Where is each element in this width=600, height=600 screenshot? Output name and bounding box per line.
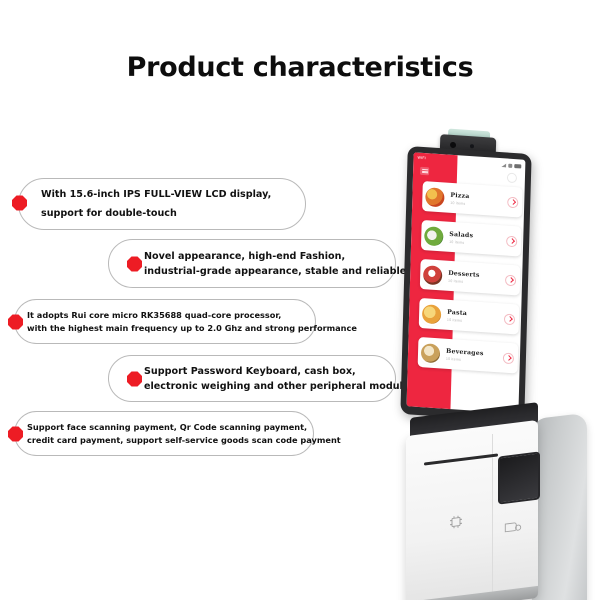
chevron-right-icon[interactable] [506,235,517,247]
feature-line: It adopts Rui core micro RK35688 quad-co… [27,309,357,322]
qr-code-scanner-window [498,451,540,504]
red-octagon-bullet-icon [8,427,23,442]
pedestal-panel-seam [492,434,493,598]
kiosk-device-image: WIFI Pizza 10 items [392,128,592,548]
chevron-right-icon[interactable] [505,274,516,286]
nfc-scan-icon [448,513,464,531]
feature-line: with the highest main frequency up to 2.… [27,322,357,335]
pedestal-body [406,420,538,600]
signal-icon [501,163,506,167]
slide-canvas: Product characteristics With 15.6-inch I… [0,0,600,600]
kiosk-screen[interactable]: WIFI Pizza 10 items [407,152,526,413]
feature-line: Support face scanning payment, Qr Code s… [27,421,341,434]
chevron-right-icon[interactable] [504,313,515,325]
red-octagon-bullet-icon [8,315,23,330]
feature-text-peripherals: Support Password Keyboard, cash box, ele… [109,364,415,394]
wifi-icon [508,164,512,168]
feature-line: Novel appearance, high-end Fashion, [144,249,406,264]
red-octagon-bullet-icon [12,196,27,211]
red-octagon-bullet-icon [127,257,142,272]
feature-line: support for double-touch [41,204,271,223]
chevron-right-icon[interactable] [507,196,518,208]
feature-line: credit card payment, support self-servic… [27,434,341,447]
camera-lens-icon [450,142,456,148]
status-bar [501,161,521,168]
pedestal-side-panel [532,413,587,600]
menu-category-list: Pizza 10 items Salads 10 items [417,181,522,383]
salad-thumb-icon [424,226,444,246]
menu-item-pizza[interactable]: Pizza 10 items [422,181,523,218]
feature-line: Support Password Keyboard, cash box, [144,364,415,379]
dessert-thumb-icon [423,265,443,285]
feature-text-display: With 15.6-inch IPS FULL-VIEW LCD display… [19,185,271,223]
circle-avatar-icon[interactable] [507,173,517,184]
feature-callout-payment[interactable]: Support face scanning payment, Qr Code s… [14,411,314,456]
feature-line: industrial-grade appearance, stable and … [144,264,406,279]
feature-line: electronic weighing and other peripheral… [144,379,415,394]
menu-item-beverages[interactable]: Beverages 10 items [418,337,519,374]
feature-callout-processor[interactable]: It adopts Rui core micro RK35688 quad-co… [14,299,316,344]
feature-callout-peripherals[interactable]: Support Password Keyboard, cash box, ele… [108,355,396,402]
menu-item-pasta[interactable]: Pasta 10 items [419,298,520,335]
feature-callout-display[interactable]: With 15.6-inch IPS FULL-VIEW LCD display… [18,178,306,230]
hamburger-menu-icon[interactable] [420,167,429,176]
menu-item-salads[interactable]: Salads 10 items [421,220,522,257]
battery-icon [514,164,521,168]
beverage-thumb-icon [421,343,441,363]
feature-callout-appearance[interactable]: Novel appearance, high-end Fashion, indu… [108,239,396,288]
pizza-thumb-icon [425,187,445,207]
feature-line: With 15.6-inch IPS FULL-VIEW LCD display… [41,185,271,204]
wifi-label: WIFI [417,156,425,161]
feature-text-appearance: Novel appearance, high-end Fashion, indu… [109,249,406,279]
pasta-thumb-icon [422,304,442,324]
menu-item-desserts[interactable]: Desserts 10 items [420,259,521,296]
card-reader-icon [504,519,522,535]
feature-text-processor: It adopts Rui core micro RK35688 quad-co… [15,309,357,334]
red-octagon-bullet-icon [127,372,142,387]
camera-sensor-icon [470,144,474,148]
chevron-right-icon[interactable] [503,352,514,364]
feature-text-payment: Support face scanning payment, Qr Code s… [15,421,341,446]
page-title: Product characteristics [0,52,600,83]
